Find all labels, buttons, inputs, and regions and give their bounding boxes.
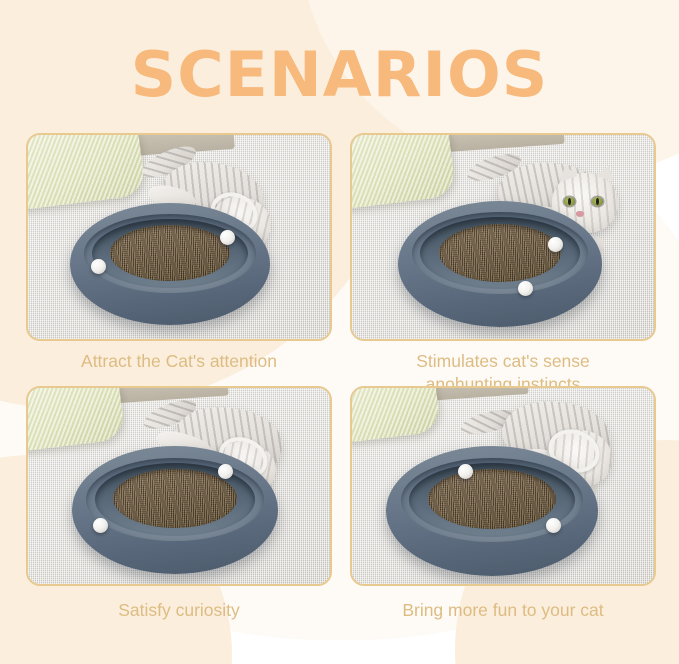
scenario-photo-1 [26, 133, 332, 341]
scenario-caption-1: Attract the Cat's attention [26, 350, 332, 373]
scratcher-toy [398, 201, 602, 327]
scratcher-toy [386, 446, 598, 576]
toy-ball [458, 464, 473, 479]
scenario-photo-3 [26, 386, 332, 586]
scenario-caption-3: Satisfy curiosity [26, 599, 332, 622]
toy-ball [218, 464, 233, 479]
photo-scene [352, 135, 654, 339]
toy-ball [91, 259, 106, 274]
toy-scratch-pad [428, 469, 555, 529]
page-title: SCENARIOS [0, 44, 679, 106]
scenario-caption-2-line-1: Stimulates cat's sense [350, 350, 656, 373]
scenario-photo-4 [350, 386, 656, 586]
toy-ball [548, 237, 563, 252]
scenario-caption-4: Bring more fun to your cat [350, 599, 656, 622]
photo-scene [28, 135, 330, 339]
scenario-card-1: Attract the Cat's attention [26, 133, 332, 373]
toy-ball [93, 518, 108, 533]
toy-scratch-pad [439, 224, 561, 282]
toy-scratch-pad [113, 469, 237, 528]
photo-scene [352, 388, 654, 584]
scratcher-toy [72, 446, 278, 574]
scenario-card-2: Stimulates cat's sense anohunting instin… [350, 133, 656, 396]
scenario-card-3: Satisfy curiosity [26, 386, 332, 622]
scenarios-page: SCENARIOS [0, 0, 679, 664]
scenario-grid: Attract the Cat's attention [26, 133, 656, 643]
toy-ball [546, 518, 561, 533]
scenario-photo-2 [350, 133, 656, 341]
toy-ball [518, 281, 533, 296]
toy-scratch-pad [110, 225, 230, 281]
scenario-card-4: Bring more fun to your cat [350, 386, 656, 622]
toy-ball [220, 230, 235, 245]
scratcher-toy [70, 203, 270, 325]
photo-scene [28, 388, 330, 584]
